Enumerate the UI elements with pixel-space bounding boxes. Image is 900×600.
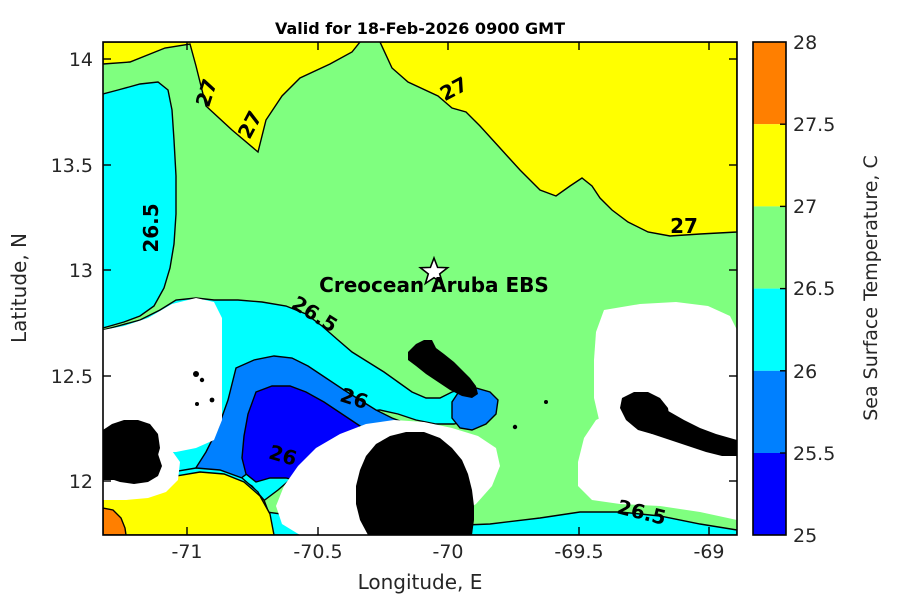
colorbar-band-25-25.5 [753, 453, 786, 535]
colorbar-tick-label: 28 [793, 32, 817, 54]
colorbar-tick-label: 26.5 [793, 278, 835, 300]
sst-contour-figure: Valid for 18-Feb-2026 0900 GMT [0, 0, 900, 600]
colorbar-band-27-27.5 [753, 124, 786, 206]
land-islet-5 [513, 425, 517, 429]
y-tick-label: 14 [69, 49, 93, 71]
contour-label: 26.5 [139, 203, 163, 252]
colorbar-tick-label: 27.5 [793, 114, 835, 136]
colorbar-tick-label: 25.5 [793, 443, 835, 465]
y-tick-label: 13 [69, 260, 93, 282]
colorbar-band-26-26.5 [753, 289, 786, 371]
y-tick-label: 12.5 [51, 366, 93, 388]
x-tick-label: -69 [693, 541, 724, 563]
x-axis-title: Longitude, E [358, 570, 483, 594]
colorbar-band-27.5-28 [753, 42, 786, 124]
page-title: Valid for 18-Feb-2026 0900 GMT [275, 19, 565, 38]
y-tick-label: 12 [69, 471, 93, 493]
station-label: Creocean Aruba EBS [319, 273, 549, 297]
colorbar-tick-label: 27 [793, 196, 817, 218]
x-tick-label: -69.5 [554, 541, 603, 563]
colorbar-tick-label: 25 [793, 525, 817, 547]
x-tick-label: -71 [171, 541, 202, 563]
x-tick-label: -70.5 [293, 541, 342, 563]
land-islet-2 [200, 378, 204, 382]
land-islet-3 [210, 398, 215, 403]
y-axis-title: Latitude, N [7, 233, 31, 343]
colorbar-band-25.5-26 [753, 371, 786, 453]
y-tick-label: 13.5 [51, 155, 93, 177]
land-islet-6 [544, 400, 548, 404]
contour-field: 27 27 27 27 26.5 26.5 26 26 26.5 Creocea… [103, 42, 737, 535]
colorbar-title: Sea Surface Temperature, C [860, 155, 882, 421]
land-islet-4 [195, 402, 199, 406]
colorbar-tick-label: 26 [793, 361, 817, 383]
x-tick-label: -70 [432, 541, 463, 563]
map-panel: 27 27 27 27 26.5 26.5 26 26 26.5 Creocea… [7, 42, 737, 594]
colorbar-band-26.5-27 [753, 206, 786, 288]
contour-label: 27 [670, 214, 698, 238]
land-islet-1 [193, 371, 199, 377]
